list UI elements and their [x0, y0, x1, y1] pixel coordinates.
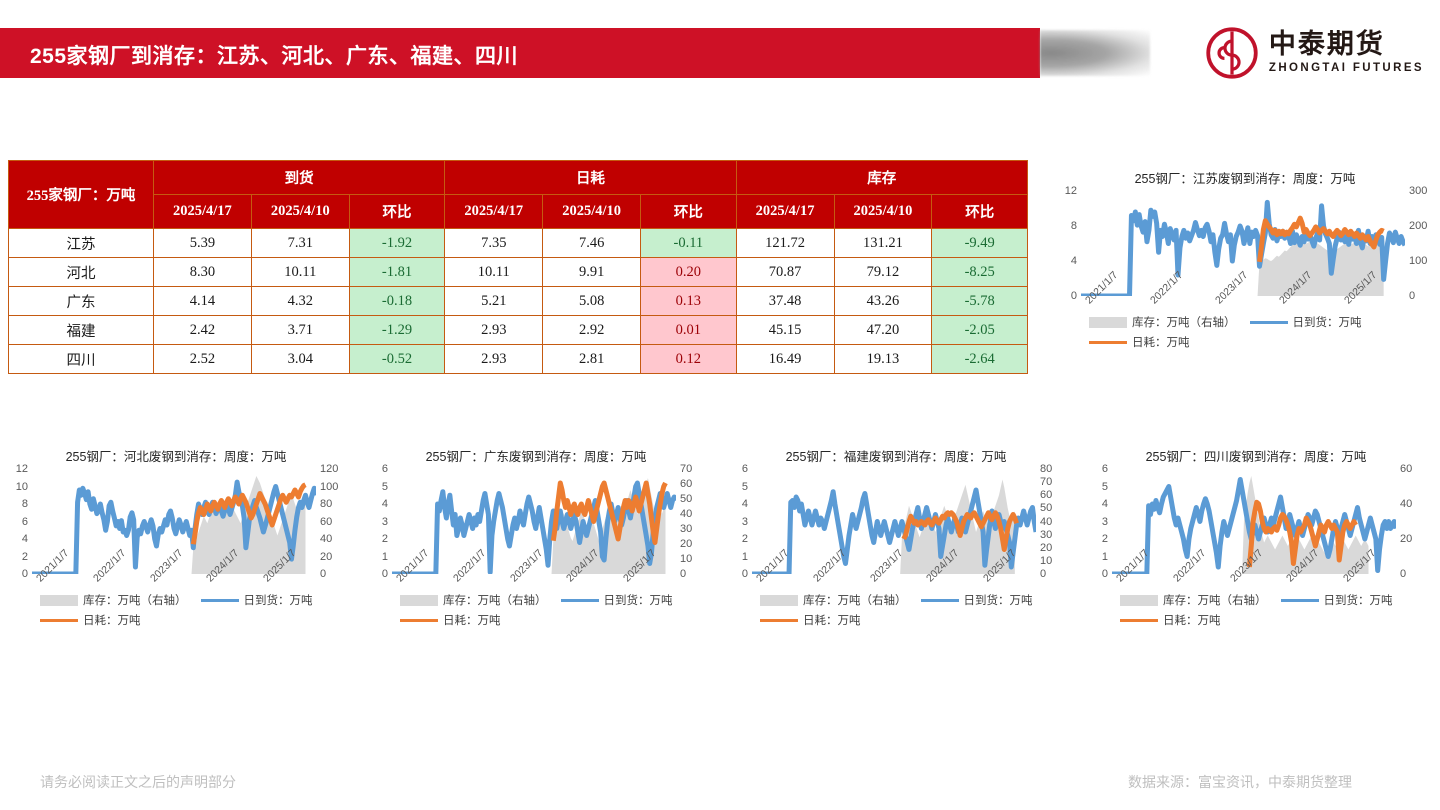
cell-consumption-2: 0.01 [641, 316, 736, 345]
chart-title: 255钢厂：江苏废钢到消存：周度：万吨 [1055, 168, 1435, 187]
chart-legend: 库存：万吨（右轴）日到货：万吨日耗：万吨 [726, 592, 1066, 628]
y-axis-left: 0123456 [726, 469, 752, 574]
legend-arrival-label: 日到货：万吨 [964, 592, 1033, 608]
cell-inventory-0: 70.87 [736, 258, 834, 287]
summary-table: 255家钢厂：万吨 到货 日耗 库存 2025/4/17 2025/4/10 环… [8, 160, 1028, 374]
subheader-inventory-d1: 2025/4/17 [736, 195, 834, 229]
legend-consumption-swatch-icon [40, 619, 78, 622]
axis-tick: 20 [680, 538, 710, 550]
legend-consumption-swatch-icon [1120, 619, 1158, 622]
cell-arrival-2: -1.92 [349, 229, 445, 258]
footer-data-source: 数据来源：富宝资讯，中泰期货整理 [1128, 772, 1352, 792]
axis-tick: 40 [1040, 516, 1070, 528]
logo-english-name: ZHONGTAI FUTURES [1269, 63, 1424, 75]
legend-inventory-swatch-icon [40, 595, 78, 606]
cell-arrival-2: -0.18 [349, 287, 445, 316]
axis-tick: 2 [362, 533, 388, 545]
cell-arrival-2: -1.81 [349, 258, 445, 287]
axis-tick: 4 [362, 498, 388, 510]
cell-consumption-1: 5.08 [543, 287, 641, 316]
cell-consumption-0: 7.35 [445, 229, 543, 258]
chart-jiangsu: 255钢厂：江苏废钢到消存：周度：万吨0481201002003002021/1… [1055, 168, 1435, 403]
table-row: 河北8.3010.11-1.8110.119.910.2070.8779.12-… [9, 258, 1028, 287]
cell-consumption-2: 0.13 [641, 287, 736, 316]
table-group-arrival: 到货 [153, 161, 444, 195]
cell-arrival-2: -1.29 [349, 316, 445, 345]
cell-consumption-2: 0.20 [641, 258, 736, 287]
y-axis-right: 01020304050607080 [1036, 469, 1066, 574]
legend-arrival-label: 日到货：万吨 [1324, 592, 1393, 608]
legend-arrival-swatch-icon [201, 599, 239, 602]
zhongtai-circle-logo-icon [1205, 26, 1259, 80]
cell-inventory-2: -9.49 [932, 229, 1028, 258]
axis-tick: 1 [362, 551, 388, 563]
axis-tick: 40 [1400, 498, 1430, 510]
axis-tick: 1 [1082, 551, 1108, 563]
subheader-inventory-d2: 2025/4/10 [834, 195, 932, 229]
y-axis-left: 0123456 [366, 469, 392, 574]
axis-tick: 5 [362, 481, 388, 493]
row-label-2: 广东 [9, 287, 154, 316]
legend-consumption-label: 日耗：万吨 [443, 612, 501, 628]
axis-tick: 30 [1040, 529, 1070, 541]
axis-tick: 50 [1040, 502, 1070, 514]
legend-arrival[interactable]: 日到货：万吨 [1250, 314, 1362, 330]
cell-consumption-1: 9.91 [543, 258, 641, 287]
axis-tick: 200 [1409, 220, 1439, 232]
y-axis-left: 024681012 [6, 469, 32, 574]
axis-tick: 6 [1082, 463, 1108, 475]
axis-tick: 6 [722, 463, 748, 475]
axis-tick: 12 [1051, 185, 1077, 197]
cell-consumption-2: -0.11 [641, 229, 736, 258]
axis-tick: 2 [2, 551, 28, 563]
axis-tick: 60 [1400, 463, 1430, 475]
cell-arrival-0: 2.52 [153, 345, 251, 374]
axis-tick: 4 [1082, 498, 1108, 510]
cell-arrival-0: 4.14 [153, 287, 251, 316]
logo-chinese-name: 中泰期货 [1269, 31, 1424, 58]
axis-tick: 10 [1040, 555, 1070, 567]
axis-tick: 50 [680, 493, 710, 505]
footer-disclaimer: 请务必阅读正文之后的声明部分 [40, 772, 236, 792]
legend-inventory-label: 库存：万吨（右轴） [1163, 592, 1267, 608]
axis-tick: 2 [1082, 533, 1108, 545]
axis-tick: 80 [320, 498, 350, 510]
cell-consumption-2: 0.12 [641, 345, 736, 374]
page-title: 255家钢厂到消存：江苏、河北、广东、福建、四川 [30, 40, 518, 70]
row-label-3: 福建 [9, 316, 154, 345]
axis-tick: 5 [1082, 481, 1108, 493]
axis-tick: 4 [2, 533, 28, 545]
axis-tick: 20 [320, 551, 350, 563]
cell-consumption-1: 7.46 [543, 229, 641, 258]
cell-inventory-2: -2.05 [932, 316, 1028, 345]
legend-inventory[interactable]: 库存：万吨（右轴） [40, 592, 187, 608]
axis-tick: 60 [1040, 489, 1070, 501]
y-axis-left: 0123456 [1086, 469, 1112, 574]
subheader-consumption-d2: 2025/4/10 [543, 195, 641, 229]
legend-inventory-swatch-icon [1120, 595, 1158, 606]
chart-title: 255钢厂：四川废钢到消存：周度：万吨 [1086, 446, 1426, 465]
legend-arrival-label: 日到货：万吨 [244, 592, 313, 608]
cell-inventory-1: 47.20 [834, 316, 932, 345]
legend-arrival[interactable]: 日到货：万吨 [921, 592, 1033, 608]
legend-inventory-label: 库存：万吨（右轴） [1132, 314, 1236, 330]
legend-consumption-swatch-icon [400, 619, 438, 622]
table-body: 江苏5.397.31-1.927.357.46-0.11121.72131.21… [9, 229, 1028, 374]
legend-consumption-label: 日耗：万吨 [803, 612, 861, 628]
cell-arrival-0: 2.42 [153, 316, 251, 345]
axis-tick: 8 [1051, 220, 1077, 232]
table-row: 广东4.144.32-0.185.215.080.1337.4843.26-5.… [9, 287, 1028, 316]
cell-arrival-1: 4.32 [251, 287, 349, 316]
legend-arrival-swatch-icon [1250, 321, 1288, 324]
axis-tick: 6 [362, 463, 388, 475]
table-group-inventory: 库存 [736, 161, 1027, 195]
cell-arrival-1: 3.04 [251, 345, 349, 374]
cell-arrival-0: 8.30 [153, 258, 251, 287]
chart-title: 255钢厂：河北废钢到消存：周度：万吨 [6, 446, 346, 465]
cell-consumption-1: 2.92 [543, 316, 641, 345]
table-head: 255家钢厂：万吨 到货 日耗 库存 2025/4/17 2025/4/10 环… [9, 161, 1028, 229]
cell-inventory-2: -5.78 [932, 287, 1028, 316]
axis-tick: 40 [320, 533, 350, 545]
legend-consumption[interactable]: 日耗：万吨 [760, 612, 861, 628]
legend-consumption-label: 日耗：万吨 [83, 612, 141, 628]
legend-inventory[interactable]: 库存：万吨（右轴） [1089, 314, 1236, 330]
subheader-arrival-d2: 2025/4/10 [251, 195, 349, 229]
cell-inventory-1: 19.13 [834, 345, 932, 374]
cell-consumption-1: 2.81 [543, 345, 641, 374]
legend-arrival[interactable]: 日到货：万吨 [561, 592, 673, 608]
cell-arrival-2: -0.52 [349, 345, 445, 374]
axis-tick: 20 [1040, 542, 1070, 554]
row-label-0: 江苏 [9, 229, 154, 258]
axis-tick: 100 [1409, 255, 1439, 267]
cell-arrival-1: 10.11 [251, 258, 349, 287]
legend-arrival-label: 日到货：万吨 [1293, 314, 1362, 330]
legend-arrival-label: 日到货：万吨 [604, 592, 673, 608]
cell-inventory-0: 37.48 [736, 287, 834, 316]
table-row: 江苏5.397.31-1.927.357.46-0.11121.72131.21… [9, 229, 1028, 258]
table-row: 四川2.523.04-0.522.932.810.1216.4919.13-2.… [9, 345, 1028, 374]
legend-arrival-swatch-icon [921, 599, 959, 602]
cell-inventory-1: 79.12 [834, 258, 932, 287]
axis-tick: 70 [680, 463, 710, 475]
subheader-arrival-d1: 2025/4/17 [153, 195, 251, 229]
legend-inventory-swatch-icon [400, 595, 438, 606]
axis-tick: 80 [1040, 463, 1070, 475]
legend-arrival[interactable]: 日到货：万吨 [201, 592, 313, 608]
legend-consumption-swatch-icon [760, 619, 798, 622]
row-label-1: 河北 [9, 258, 154, 287]
y-axis-right: 010203040506070 [676, 469, 706, 574]
axis-tick: 6 [2, 516, 28, 528]
cell-inventory-0: 16.49 [736, 345, 834, 374]
cell-consumption-0: 10.11 [445, 258, 543, 287]
cell-inventory-1: 131.21 [834, 229, 932, 258]
legend-inventory[interactable]: 库存：万吨（右轴） [400, 592, 547, 608]
axis-tick: 12 [2, 463, 28, 475]
axis-tick: 3 [722, 516, 748, 528]
axis-tick: 10 [680, 553, 710, 565]
cell-arrival-1: 3.71 [251, 316, 349, 345]
subheader-consumption-delta: 环比 [641, 195, 736, 229]
axis-tick: 4 [722, 498, 748, 510]
subheader-inventory-delta: 环比 [932, 195, 1028, 229]
chart-hebei: 255钢厂：河北废钢到消存：周度：万吨024681012020406080100… [6, 446, 346, 681]
chart-guangdong: 255钢厂：广东废钢到消存：周度：万吨012345601020304050607… [366, 446, 706, 681]
axis-tick: 3 [362, 516, 388, 528]
cell-consumption-0: 5.21 [445, 287, 543, 316]
cell-arrival-1: 7.31 [251, 229, 349, 258]
cell-arrival-0: 5.39 [153, 229, 251, 258]
legend-arrival-swatch-icon [1281, 599, 1319, 602]
legend-inventory[interactable]: 库存：万吨（右轴） [1120, 592, 1267, 608]
axis-tick: 100 [320, 481, 350, 493]
chart-title: 255钢厂：广东废钢到消存：周度：万吨 [366, 446, 706, 465]
y-axis-right: 0204060 [1396, 469, 1426, 574]
legend-inventory-label: 库存：万吨（右轴） [443, 592, 547, 608]
legend-consumption[interactable]: 日耗：万吨 [40, 612, 141, 628]
axis-tick: 2 [722, 533, 748, 545]
axis-tick: 60 [680, 478, 710, 490]
axis-tick: 120 [320, 463, 350, 475]
chart-legend: 库存：万吨（右轴）日到货：万吨日耗：万吨 [1055, 314, 1435, 350]
cell-consumption-0: 2.93 [445, 345, 543, 374]
legend-consumption[interactable]: 日耗：万吨 [1120, 612, 1221, 628]
chart-legend: 库存：万吨（右轴）日到货：万吨日耗：万吨 [6, 592, 346, 628]
legend-consumption[interactable]: 日耗：万吨 [400, 612, 501, 628]
subheader-consumption-d1: 2025/4/17 [445, 195, 543, 229]
y-axis-right: 0100200300 [1405, 191, 1435, 296]
axis-tick: 8 [2, 498, 28, 510]
chart-legend: 库存：万吨（右轴）日到货：万吨日耗：万吨 [366, 592, 706, 628]
cell-inventory-0: 45.15 [736, 316, 834, 345]
cell-consumption-0: 2.93 [445, 316, 543, 345]
legend-consumption-label: 日耗：万吨 [1163, 612, 1221, 628]
cell-inventory-0: 121.72 [736, 229, 834, 258]
legend-inventory-swatch-icon [1089, 317, 1127, 328]
axis-tick: 70 [1040, 476, 1070, 488]
axis-tick: 3 [1082, 516, 1108, 528]
row-label-4: 四川 [9, 345, 154, 374]
chart-sichuan: 255钢厂：四川废钢到消存：周度：万吨012345602040602021/1/… [1086, 446, 1426, 681]
axis-tick: 10 [2, 481, 28, 493]
axis-tick: 60 [320, 516, 350, 528]
chart-legend: 库存：万吨（右轴）日到货：万吨日耗：万吨 [1086, 592, 1426, 628]
axis-tick: 4 [1051, 255, 1077, 267]
cell-inventory-2: -2.64 [932, 345, 1028, 374]
cell-inventory-1: 43.26 [834, 287, 932, 316]
legend-consumption-label: 日耗：万吨 [1132, 334, 1190, 350]
legend-consumption-swatch-icon [1089, 341, 1127, 344]
y-axis-right: 020406080100120 [316, 469, 346, 574]
table-group-header-row: 255家钢厂：万吨 到货 日耗 库存 [9, 161, 1028, 195]
axis-tick: 300 [1409, 185, 1439, 197]
legend-arrival-swatch-icon [561, 599, 599, 602]
axis-tick: 5 [722, 481, 748, 493]
y-axis-left: 04812 [1055, 191, 1081, 296]
legend-inventory[interactable]: 库存：万吨（右轴） [760, 592, 907, 608]
axis-tick: 1 [722, 551, 748, 563]
table-corner-label: 255家钢厂：万吨 [9, 161, 154, 229]
chart-title: 255钢厂：福建废钢到消存：周度：万吨 [726, 446, 1066, 465]
legend-inventory-swatch-icon [760, 595, 798, 606]
legend-consumption[interactable]: 日耗：万吨 [1089, 334, 1190, 350]
legend-arrival[interactable]: 日到货：万吨 [1281, 592, 1393, 608]
axis-tick: 40 [680, 508, 710, 520]
axis-tick: 30 [680, 523, 710, 535]
subheader-arrival-delta: 环比 [349, 195, 445, 229]
cell-inventory-2: -8.25 [932, 258, 1028, 287]
header-banner-tail [1040, 30, 1150, 76]
chart-fujian: 255钢厂：福建废钢到消存：周度：万吨012345601020304050607… [726, 446, 1066, 681]
table-row: 福建2.423.71-1.292.932.920.0145.1547.20-2.… [9, 316, 1028, 345]
axis-tick: 20 [1400, 533, 1430, 545]
legend-inventory-label: 库存：万吨（右轴） [803, 592, 907, 608]
company-logo: 中泰期货 ZHONGTAI FUTURES [1205, 26, 1424, 80]
table-group-consumption: 日耗 [445, 161, 736, 195]
table-subheader-row: 2025/4/17 2025/4/10 环比 2025/4/17 2025/4/… [9, 195, 1028, 229]
legend-inventory-label: 库存：万吨（右轴） [83, 592, 187, 608]
